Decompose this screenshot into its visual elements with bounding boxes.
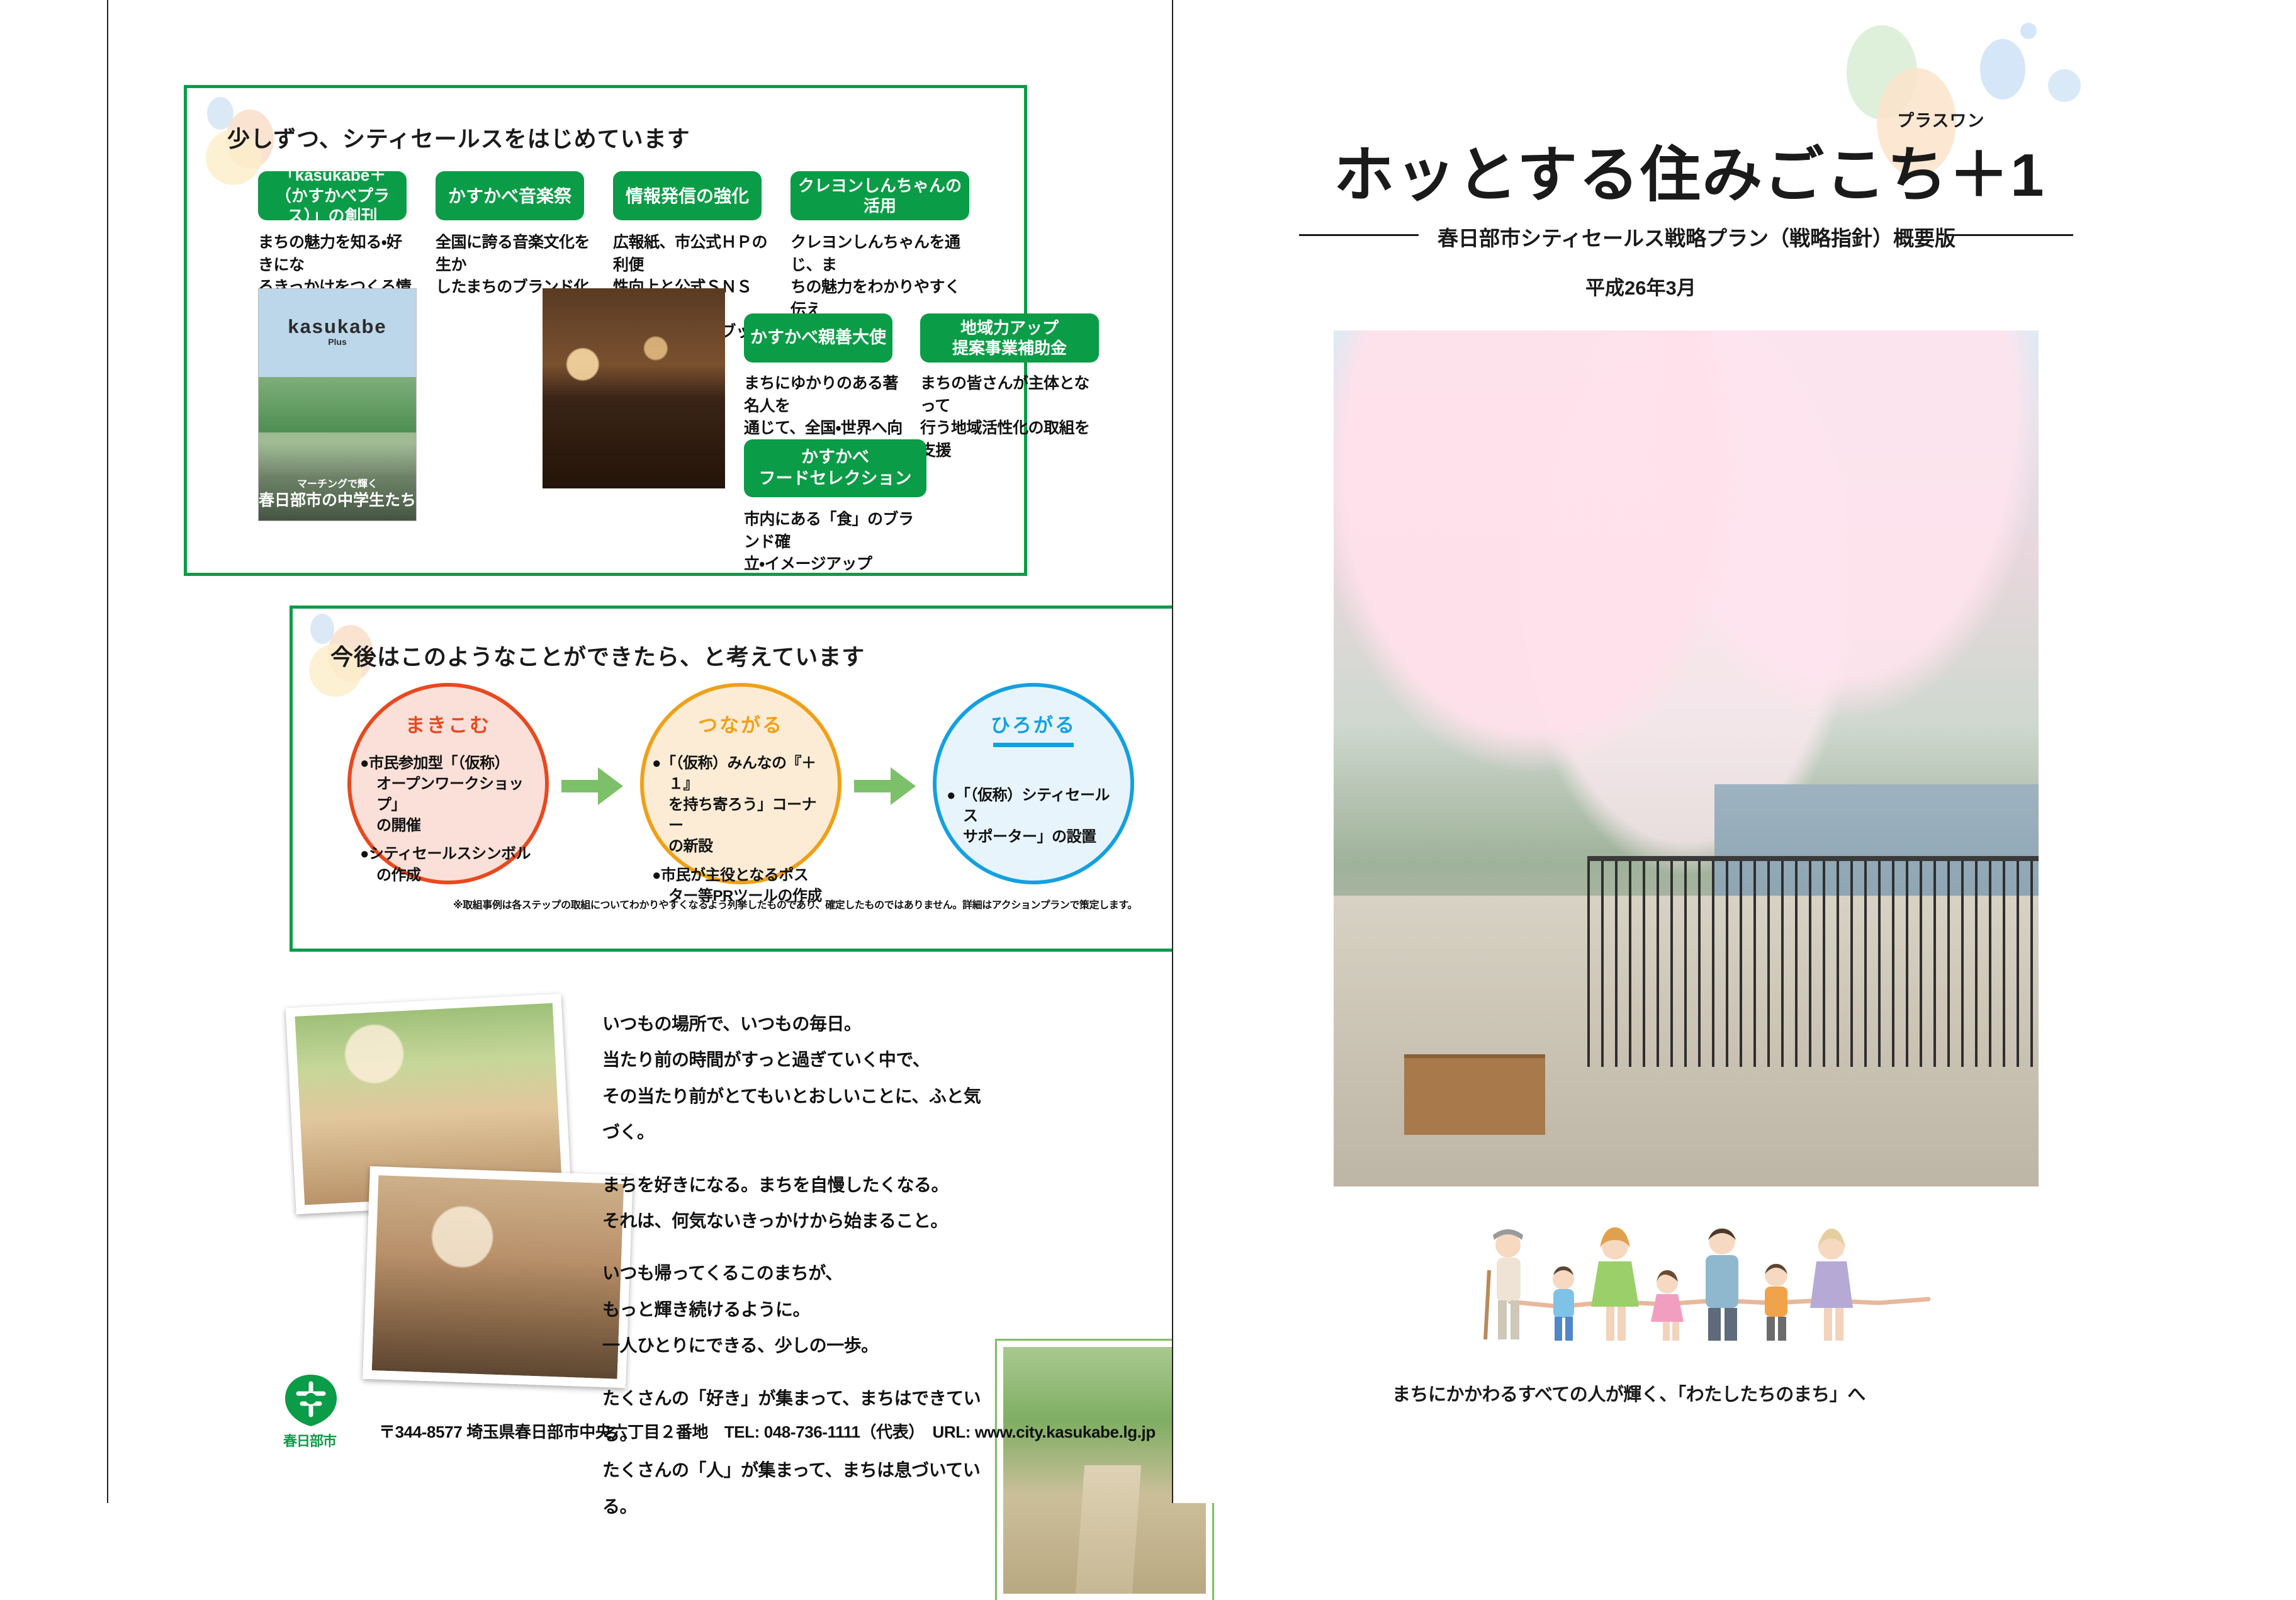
cover-blob-blue [1980,39,2025,99]
photo-kasukabe-plus-magazine: kasukabe Plus マーチングで輝く 春日部市の中学生たち [258,288,417,521]
chip-label: かすかべ親善大使 [750,327,886,349]
step-bullet: ●市民参加型「（仮称） オープンワークショップ」 の開催 [360,753,536,836]
chip-label: かすかべ フードセレクション [759,447,912,490]
chip-label: 情報発信の強化 [626,185,749,207]
kasukabe-city-logo-text: 春日部市 [283,1430,336,1450]
chip-music-festival[interactable]: かすかべ音楽祭 [436,171,584,220]
poem-stanza: いつも帰ってくるこのまちが、 もっと輝き続けるように。 一人ひとりにできる、少し… [602,1255,993,1363]
left-page: 少しずつ、シティセールスをはじめています 「kasukabe＋ （かすかべプラス… [107,0,1159,1503]
chip-label: 「kasukabe＋ （かすかべプラス）」の創刊 [263,165,402,227]
magazine-brand: kasukabe [259,315,416,338]
step-circle-hirogaru: ひろがる ●「（仮称）シティセールス サポーター」の設置 [933,683,1134,884]
arrow-right-icon-2 [854,763,917,809]
chip-regional-power-subsidy[interactable]: 地域力アップ 提案事業補助金 [920,313,1099,363]
cover-blob-blue-small [2048,69,2081,102]
illustration-family-holding-hands [1475,1221,1979,1360]
step-bullets: ●市民参加型「（仮称） オープンワークショップ」 の開催 ●シティセールスシンボ… [360,753,536,893]
subtitle-rule-left [1299,234,1419,236]
section2-title: 今後はこのようなことができたら、と考えています [330,639,865,672]
step-rule [993,743,1074,747]
chip-label: クレヨンしんちゃんの 活用 [798,176,962,217]
photo-craft-workshop [363,1166,633,1388]
page-subtitle: 春日部市シティセールス戦略プラン（戦略指針）概要版 [1438,222,1956,252]
chip-goodwill-ambassador[interactable]: かすかべ親善大使 [744,313,892,363]
desc-regional-power-subsidy: まちの皆さんが主体となって 行う地域活性化の取組を支援 [920,373,1103,462]
kasukabe-city-logo-icon [283,1373,339,1428]
step-label: まきこむ [405,709,491,738]
magazine-kicker-2: 春日部市の中学生たち [259,488,416,510]
step-circle-tsunagaru: つながる ●「（仮称）みんなの『＋１』 を持ち寄ろう」コーナー の新設 ●市民が… [640,683,841,884]
step-bullet: ●「（仮称）シティセールス サポーター」の設置 [947,785,1120,847]
footer-address: 〒344-8577 埼玉県春日部市中央六丁目２番地 TEL: 048-736-1… [379,1419,1156,1443]
arrow-right-icon-1 [561,763,624,809]
photo-music-festival [543,288,725,488]
chip-label: かすかべ音楽祭 [448,185,571,207]
poem-stanza: いつもの場所で、いつもの毎日。 当たり前の時間がすっと過ぎていく中で、 その当た… [602,1006,993,1151]
step-label: ひろがる [991,709,1076,738]
subtitle-rule-right [1954,234,2073,236]
cover-blob-blue-dot [2020,23,2037,39]
magazine-brand-suffix: Plus [259,337,416,347]
chip-food-selection[interactable]: かすかべ フードセレクション [744,439,926,497]
step-bullet: ●シティセールスシンボル の作成 [360,843,536,885]
step-bullets: ●「（仮称）みんなの『＋１』 を持ち寄ろう」コーナー の新設 ●市民が主役となる… [652,753,830,914]
chip-kasukabe-plus[interactable]: 「kasukabe＋ （かすかべプラス）」の創刊 [258,171,407,220]
cover-blob-green [1847,25,1917,120]
chip-information-dissemination[interactable]: 情報発信の強化 [613,171,762,220]
desc-food-selection: 市内にある「食」のブランド確 立・イメージアップ [744,509,914,576]
cover-caption: まちにかかわるすべての人が輝く、「わたしたちのまち」へ [1392,1380,1865,1406]
photo-cherry-blossom-riverside [1334,330,2039,1186]
photo-railing [1587,856,2039,1066]
step-bullets: ●「（仮称）シティセールス サポーター」の設置 [947,757,1120,855]
step-circle-makikomu: まきこむ ●市民参加型「（仮称） オープンワークショップ」 の開催 ●シティセー… [347,683,549,884]
right-page: プラスワン ホッとする住みごこち＋1 春日部市シティセールス戦略プラン（戦略指針… [1172,0,2296,1503]
poem-text: いつもの場所で、いつもの毎日。 当たり前の時間がすっと過ぎていく中で、 その当た… [602,1006,993,1541]
poem-stanza: まちを好きになる。まちを自慢したくなる。 それは、何気ないきっかけから始まること… [602,1167,993,1239]
section1-title: 少しずつ、シティセールスをはじめています [227,121,690,154]
chip-crayon-shinchan[interactable]: クレヨンしんちゃんの 活用 [791,171,969,220]
step-bullet: ●「（仮称）みんなの『＋１』 を持ち寄ろう」コーナー の新設 [652,753,830,857]
photo-bench [1404,1054,1545,1135]
page-title: ホッとする住みごこち＋1 [1334,126,2046,213]
publication-date: 平成26年3月 [1585,272,1696,300]
chip-label: 地域力アップ 提案事業補助金 [952,318,1067,359]
step-label: つながる [698,709,784,738]
section2-footnote: ※取組事例は各ステップの取組についてわかりやすくなるよう列挙したものであり、確定… [453,896,1137,911]
